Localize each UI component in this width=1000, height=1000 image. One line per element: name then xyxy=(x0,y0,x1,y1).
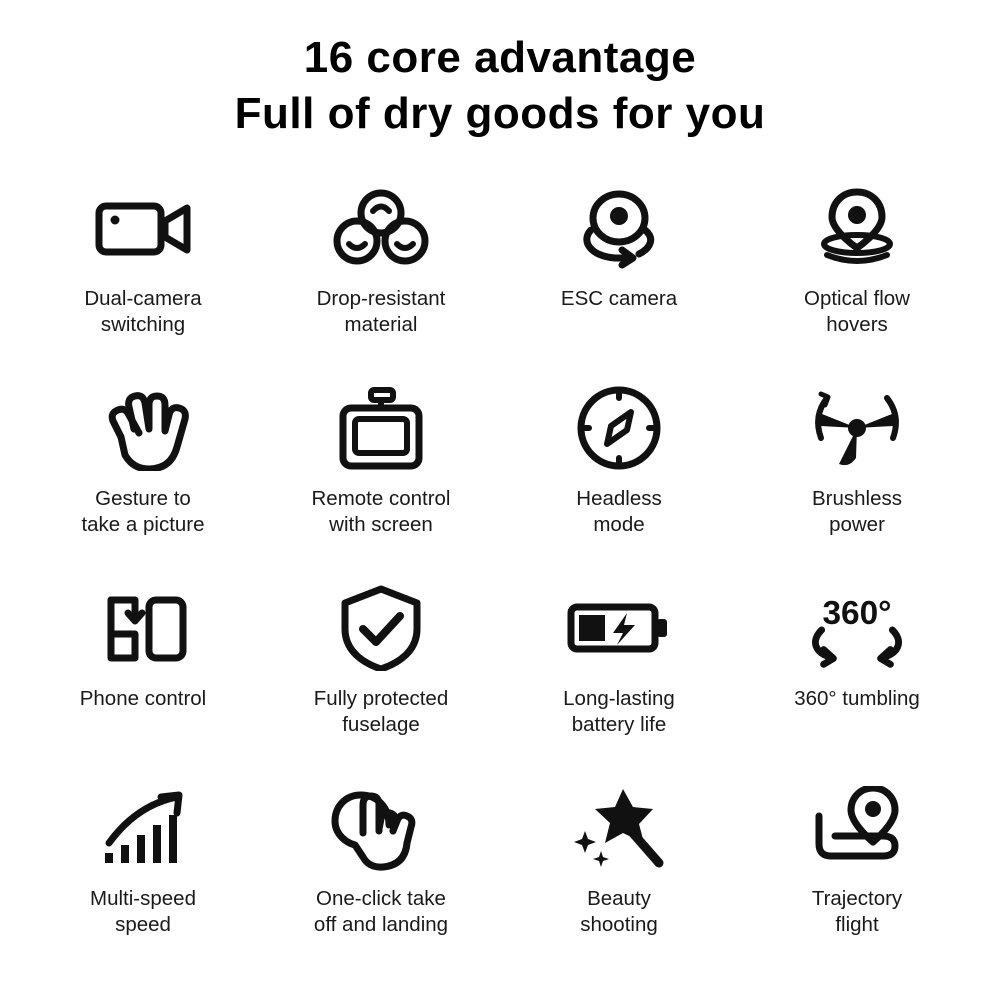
feature-item-gesture-take-picture: Gesture to take a picture xyxy=(24,380,262,580)
feature-caption-line-1: Long-lasting xyxy=(563,687,675,710)
drop-resistant-material-icon xyxy=(326,180,436,276)
feature-caption-line-1: Headless xyxy=(576,487,661,510)
dual-camera-icon xyxy=(88,180,198,276)
features-grid: Dual-camera switching Drop-resistant mat… xyxy=(0,180,1000,980)
feature-caption: Long-lasting battery life xyxy=(563,686,675,738)
feature-caption-line-1: Beauty xyxy=(587,887,651,910)
feature-item-remote-control-with-screen: Remote control with screen xyxy=(262,380,500,580)
feature-caption-line-1: One-click take xyxy=(316,887,446,910)
feature-caption: Multi-speed speed xyxy=(90,886,196,938)
feature-caption-line-2: flight xyxy=(812,912,902,938)
page-title-line-2: Full of dry goods for you xyxy=(0,86,1000,142)
feature-item-long-lasting-battery: Long-lasting battery life xyxy=(500,580,738,780)
optical-flow-hover-icon xyxy=(802,180,912,276)
feature-item-optical-flow-hovers: Optical flow hovers xyxy=(738,180,976,380)
feature-grid-page: 16 core advantage Full of dry goods for … xyxy=(0,0,1000,1000)
phone-control-icon xyxy=(88,580,198,676)
feature-item-fully-protected-fuselage: Fully protected fuselage xyxy=(262,580,500,780)
feature-item-brushless-power: Brushless power xyxy=(738,380,976,580)
feature-item-multi-speed: Multi-speed speed xyxy=(24,780,262,980)
feature-caption: Gesture to take a picture xyxy=(81,486,204,538)
feature-caption: Brushless power xyxy=(812,486,902,538)
feature-item-phone-control: Phone control xyxy=(24,580,262,780)
feature-caption-line-2: take a picture xyxy=(81,512,204,538)
feature-caption-line-2: speed xyxy=(90,912,196,938)
feature-caption-line-2: with screen xyxy=(311,512,450,538)
feature-caption-line-1: Brushless xyxy=(812,487,902,510)
feature-caption-line-2: material xyxy=(317,312,446,338)
feature-caption-line-2: off and landing xyxy=(314,912,448,938)
feature-caption-line-2: fuselage xyxy=(314,712,448,738)
feature-caption: ESC camera xyxy=(561,286,677,312)
feature-caption-line-1: Phone control xyxy=(80,687,207,710)
feature-caption-line-2: mode xyxy=(576,512,661,538)
page-header: 16 core advantage Full of dry goods for … xyxy=(0,0,1000,142)
feature-caption: Phone control xyxy=(80,686,207,712)
feature-caption-line-1: Remote control xyxy=(311,487,450,510)
feature-item-headless-mode: Headless mode xyxy=(500,380,738,580)
feature-item-360-tumbling: 360° 360° tumbling xyxy=(738,580,976,780)
feature-caption-line-1: Optical flow xyxy=(804,287,910,310)
feature-caption-line-1: ESC camera xyxy=(561,287,677,310)
feature-caption: Headless mode xyxy=(576,486,661,538)
esc-camera-icon xyxy=(564,180,674,276)
feature-caption-line-1: Multi-speed xyxy=(90,887,196,910)
feature-caption: Drop-resistant material xyxy=(317,286,446,338)
feature-caption-line-1: Drop-resistant xyxy=(317,287,446,310)
feature-caption: Optical flow hovers xyxy=(804,286,910,338)
feature-caption: 360° tumbling xyxy=(794,686,920,712)
svg-text:360°: 360° xyxy=(822,595,891,632)
feature-caption: Remote control with screen xyxy=(311,486,450,538)
feature-caption-line-1: Gesture to xyxy=(95,487,191,510)
shield-check-icon xyxy=(326,580,436,676)
feature-item-dual-camera-switching: Dual-camera switching xyxy=(24,180,262,380)
beauty-magic-wand-icon xyxy=(564,780,674,876)
feature-caption-line-1: Fully protected xyxy=(314,687,448,710)
one-click-tap-icon xyxy=(326,780,436,876)
feature-caption: Fully protected fuselage xyxy=(314,686,448,738)
feature-caption: Trajectory flight xyxy=(812,886,902,938)
compass-icon xyxy=(564,380,674,476)
feature-caption-line-2: power xyxy=(812,512,902,538)
speed-chart-icon xyxy=(88,780,198,876)
feature-caption-line-1: 360° tumbling xyxy=(794,687,920,710)
remote-control-screen-icon xyxy=(326,380,436,476)
feature-item-drop-resistant-material: Drop-resistant material xyxy=(262,180,500,380)
feature-caption-line-1: Trajectory xyxy=(812,887,902,910)
feature-caption-line-2: switching xyxy=(84,312,201,338)
feature-item-trajectory-flight: Trajectory flight xyxy=(738,780,976,980)
feature-item-esc-camera: ESC camera xyxy=(500,180,738,380)
feature-item-beauty-shooting: Beauty shooting xyxy=(500,780,738,980)
feature-caption: Beauty shooting xyxy=(580,886,658,938)
battery-bolt-icon xyxy=(564,580,674,676)
feature-caption: One-click take off and landing xyxy=(314,886,448,938)
feature-caption-line-1: Dual-camera xyxy=(84,287,201,310)
feature-item-one-click-takeoff-landing: One-click take off and landing xyxy=(262,780,500,980)
brushless-propeller-icon xyxy=(802,380,912,476)
feature-caption-line-2: hovers xyxy=(804,312,910,338)
feature-caption: Dual-camera switching xyxy=(84,286,201,338)
feature-caption-line-2: battery life xyxy=(563,712,675,738)
page-title-line-1: 16 core advantage xyxy=(0,30,1000,86)
trajectory-flight-icon xyxy=(802,780,912,876)
feature-caption-line-2: shooting xyxy=(580,912,658,938)
360-tumbling-icon: 360° xyxy=(802,580,912,676)
gesture-hand-icon xyxy=(88,380,198,476)
